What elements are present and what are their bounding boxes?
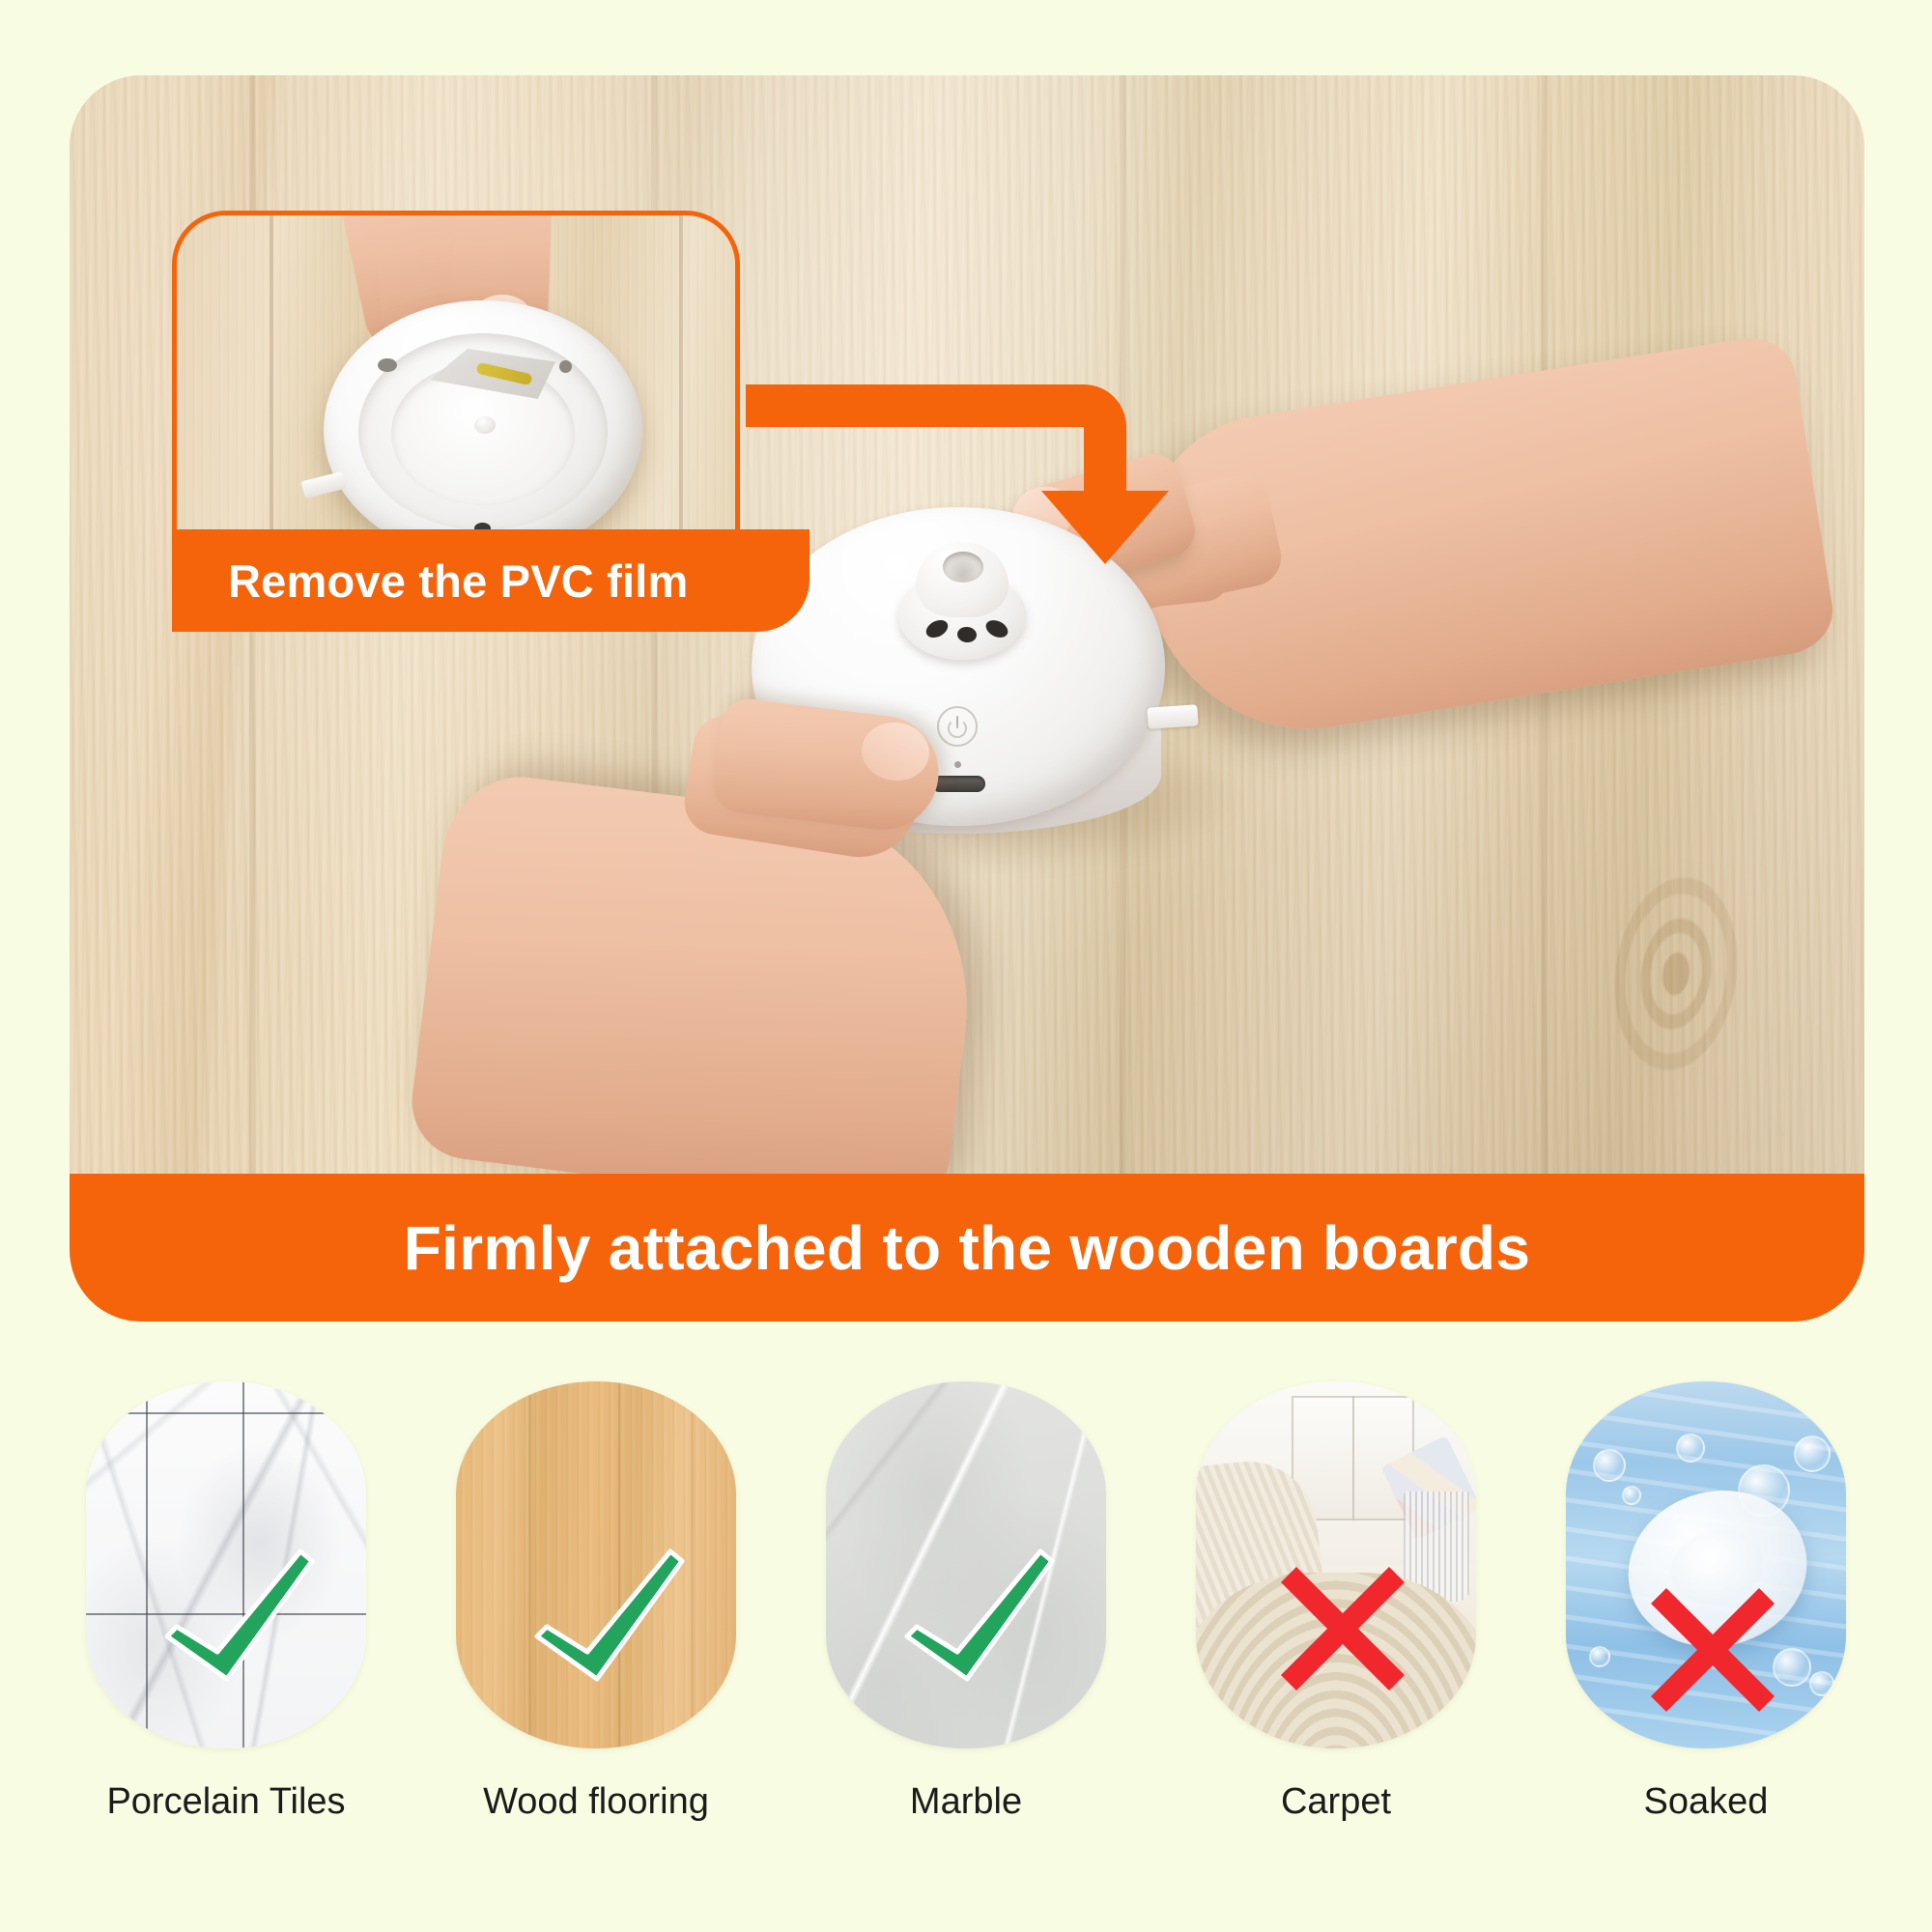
surface-label-carpet: Carpet [1281,1781,1391,1823]
surface-tile-carpet[interactable]: Carpet [1168,1381,1504,1823]
check-icon [897,1544,1062,1689]
cross-icon [1645,1582,1780,1718]
bubble-5 [1794,1435,1831,1472]
left-hand [398,674,997,1215]
hero-banner-text: Firmly attached to the wooden boards [404,1212,1531,1284]
bubble-1 [1593,1449,1626,1482]
inset-hole-left [378,358,397,372]
cross-icon [1275,1561,1410,1696]
surface-thumb-marble [826,1381,1106,1748]
check-icon [527,1544,692,1689]
center-nub [474,416,496,434]
bubble-6 [1589,1646,1610,1667]
hero-photo: Remove the PVC film [70,75,1864,1321]
surface-thumb-soaked [1566,1381,1846,1748]
bubble-3 [1676,1434,1705,1463]
tile-grout-vertical-1 [146,1381,148,1748]
check-icon [157,1544,322,1689]
surface-thumb-carpet [1196,1381,1476,1748]
tile-grout-horizontal-1 [86,1412,366,1414]
surface-thumb-porcelain [86,1381,366,1748]
inset-caption-band: Remove the PVC film [172,529,810,632]
surface-label-marble: Marble [910,1781,1022,1823]
inset-caption-text: Remove the PVC film [228,554,689,608]
adhesive-pull-tab [1147,704,1198,729]
bubble-2 [1622,1486,1641,1505]
surface-tile-porcelain[interactable]: Porcelain Tiles [58,1381,394,1823]
nozzle-opening [943,552,983,582]
hero-banner: Firmly attached to the wooden boards [70,1174,1864,1321]
inset-hole-right [559,360,572,373]
surface-compatibility-row: Porcelain Tiles Wood flooring Marble [58,1381,1874,1864]
surface-label-soaked: Soaked [1644,1781,1769,1823]
surface-tile-soaked[interactable]: Soaked [1538,1381,1874,1823]
surface-thumb-wood [456,1381,736,1748]
surface-tile-wood[interactable]: Wood flooring [428,1381,764,1823]
surface-label-porcelain: Porcelain Tiles [106,1781,345,1823]
surface-label-wood: Wood flooring [483,1781,709,1823]
inset-caption-left-corner [172,529,230,632]
surface-tile-marble[interactable]: Marble [798,1381,1134,1823]
bubble-8 [1809,1671,1834,1696]
